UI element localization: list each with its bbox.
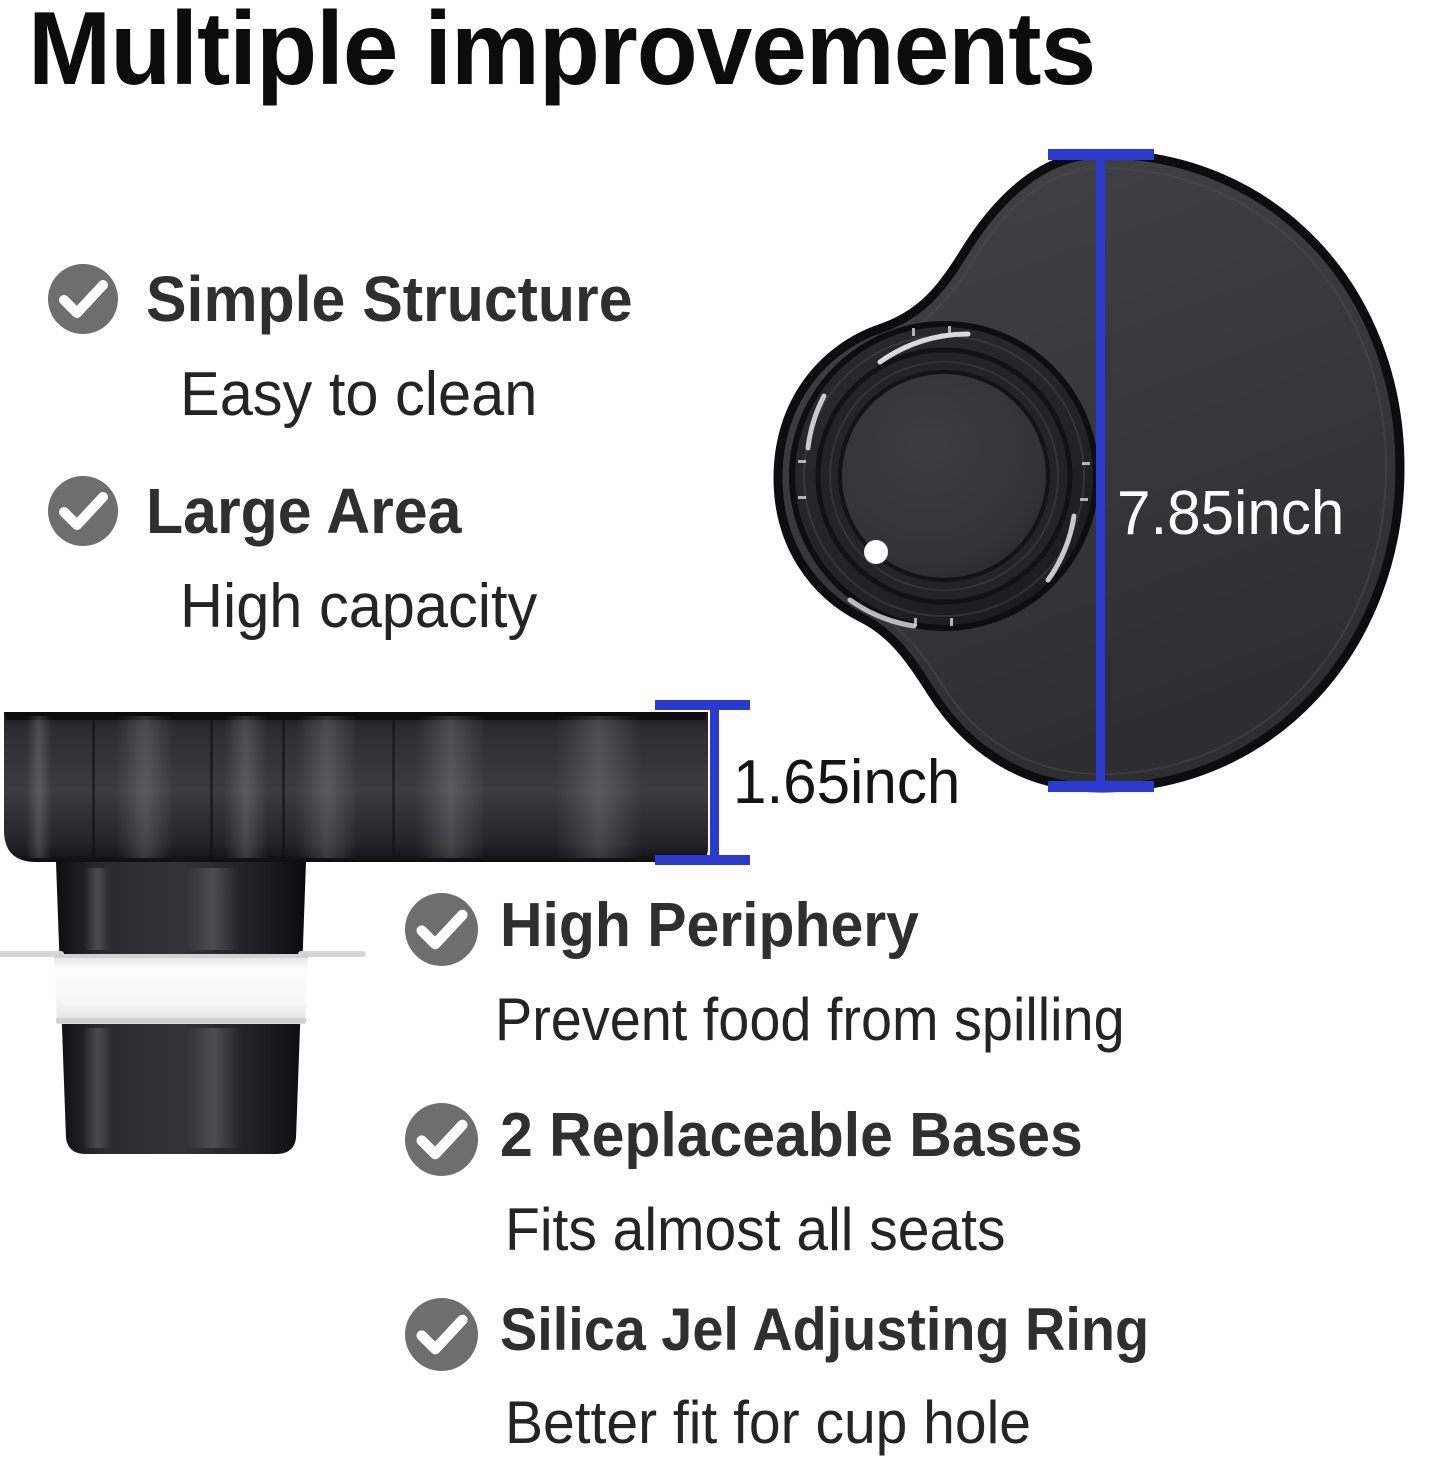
recess-tick: [948, 326, 951, 334]
check-circle-icon: [48, 264, 118, 334]
stem-gloss-band: [186, 868, 240, 950]
feature-heading: 2 Replaceable Bases: [500, 1105, 1083, 1167]
slab-seam: [210, 718, 213, 858]
slab-gloss-band: [26, 716, 52, 858]
diameter-dimension-cap-top: [1048, 149, 1154, 160]
diameter-dimension-label: 7.85inch: [1117, 483, 1344, 545]
slab-gloss-band: [296, 716, 358, 858]
slab-gloss-band: [556, 716, 642, 858]
slab-seam: [282, 718, 285, 858]
slab-gloss-band: [116, 716, 174, 858]
diameter-dimension-cap-bottom: [1048, 781, 1154, 792]
page-title: Multiple improvements: [28, 0, 1372, 104]
recess-tick: [912, 328, 915, 336]
feature-subtext: Fits almost all seats: [505, 1200, 1005, 1260]
check-circle-icon: [48, 476, 118, 546]
recess-tick: [950, 618, 953, 626]
feature-heading: Silica Jel Adjusting Ring: [500, 1300, 1149, 1360]
stem-wing-tab-right: [298, 951, 366, 957]
recess-tick: [1082, 462, 1090, 465]
slab-seam: [92, 718, 95, 858]
height-dimension-cap-bottom: [655, 855, 750, 865]
slab-seam: [392, 718, 395, 858]
stem-gloss-band: [84, 868, 110, 950]
recess-tick: [798, 496, 806, 499]
slab-gloss-band: [224, 716, 268, 858]
height-dimension-line: [710, 703, 719, 863]
recess-tick: [914, 618, 917, 626]
silicone-adjusting-ring: [54, 954, 308, 1024]
check-circle-icon: [405, 1298, 478, 1371]
feature-heading: Simple Structure: [146, 267, 633, 331]
recess-tick: [1080, 498, 1088, 501]
feature-subtext: Prevent food from spilling: [495, 990, 1125, 1050]
feature-subtext: Better fit for cup hole: [505, 1393, 1031, 1453]
height-dimension-label: 1.65inch: [733, 752, 960, 814]
height-dimension-cap-top: [655, 700, 750, 710]
feature-subtext: Easy to clean: [180, 364, 537, 426]
feature-subtext: High capacity: [180, 576, 537, 638]
well-highlight-dot: [864, 540, 888, 564]
ring-top-edge: [54, 954, 308, 958]
feature-heading: High Periphery: [500, 895, 919, 957]
product-image-top-view: [772, 148, 1412, 798]
check-circle-icon: [405, 893, 478, 966]
stem-gloss-band: [186, 1028, 242, 1148]
recess-tick: [798, 460, 806, 463]
check-circle-icon: [405, 1103, 478, 1176]
slab-gloss-band: [416, 716, 486, 858]
feature-heading: Large Area: [146, 479, 461, 543]
stem-gloss-band: [82, 1028, 112, 1148]
diameter-dimension-line: [1096, 152, 1105, 789]
ring-bottom-edge: [56, 1018, 306, 1023]
